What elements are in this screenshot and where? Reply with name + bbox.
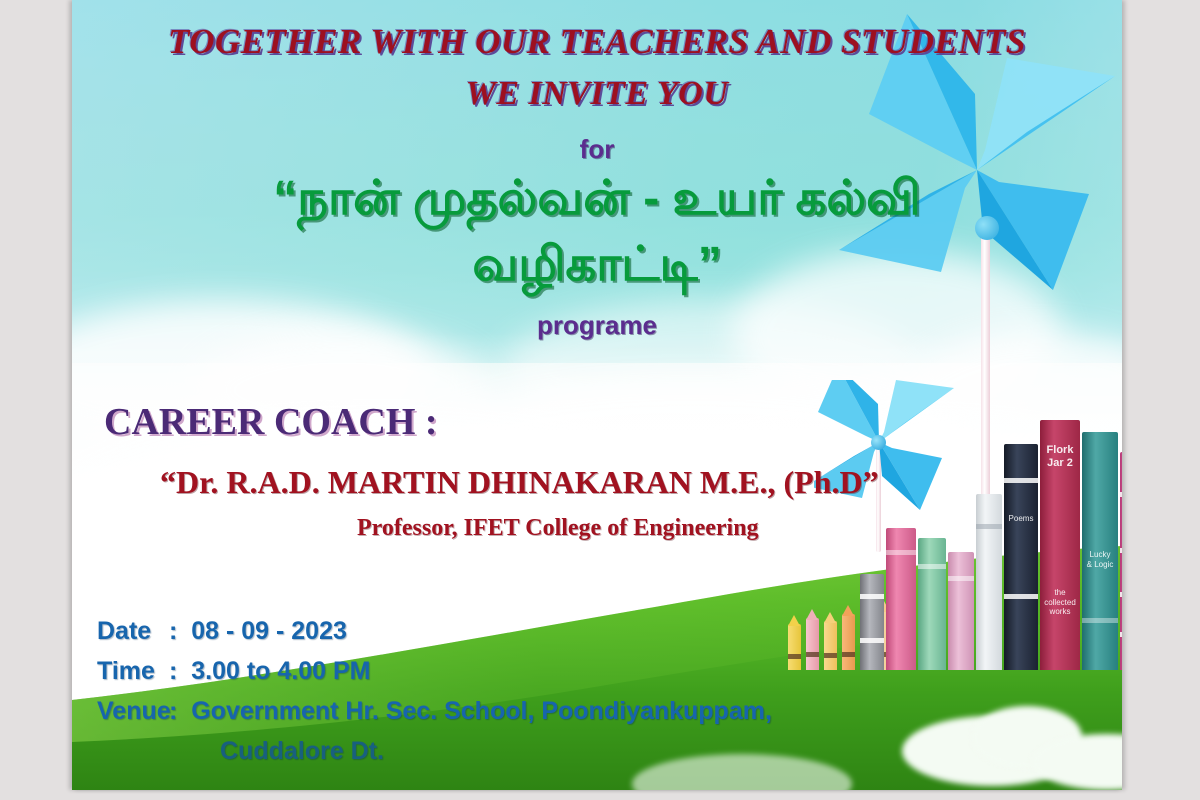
time-value: 3.00 to 4.00 PM [191, 657, 370, 686]
book [948, 552, 974, 670]
tamil-title-line-2: வழிகாட்டி” [72, 238, 1122, 292]
book: FlorkJar 2 thecollectedworks [1040, 420, 1080, 670]
date-value: 08 - 09 - 2023 [191, 617, 347, 646]
coach-name: “Dr. R.A.D. MARTIN DHINAKARAN M.E., (Ph.… [72, 464, 1122, 501]
crayon [806, 618, 819, 670]
venue-value: Government Hr. Sec. School, Poondiyankup… [191, 697, 772, 726]
venue-value-line-2: Cuddalore Dt. [220, 737, 384, 766]
time-row: Time: 3.00 to 4.00 PM [97, 657, 370, 686]
for-label: for [72, 134, 1122, 165]
venue-label: Venue [97, 697, 169, 726]
book [886, 528, 916, 670]
coach-designation: Professor, IFET College of Engineering [72, 515, 1122, 542]
date-row: Date: 08 - 09 - 2023 [97, 617, 347, 646]
screenshot-canvas: Poems FlorkJar 2 thecollectedworks Lucky… [0, 0, 1200, 800]
crayon [824, 621, 837, 670]
invitation-poster: Poems FlorkJar 2 thecollectedworks Lucky… [72, 0, 1122, 790]
book [918, 538, 946, 670]
time-label: Time [97, 657, 169, 686]
programme-label: programe [72, 310, 1122, 341]
crayon [788, 624, 801, 670]
time-separator: : [169, 657, 177, 685]
career-coach-label: CAREER COACH : [72, 400, 1122, 444]
venue-row: Venue: Government Hr. Sec. School, Poond… [97, 697, 772, 726]
date-separator: : [169, 617, 177, 645]
headline-line-2: WE INVITE YOU [72, 75, 1122, 113]
crayon [842, 614, 855, 670]
venue-separator: : [169, 697, 177, 725]
tamil-title-line-1: “நான் முதல்வன் - உயர் கல்வி [72, 172, 1122, 226]
headline-line-1: TOGETHER WITH OUR TEACHERS AND STUDENTS [72, 22, 1122, 62]
date-label: Date [97, 617, 169, 646]
book [860, 574, 884, 670]
